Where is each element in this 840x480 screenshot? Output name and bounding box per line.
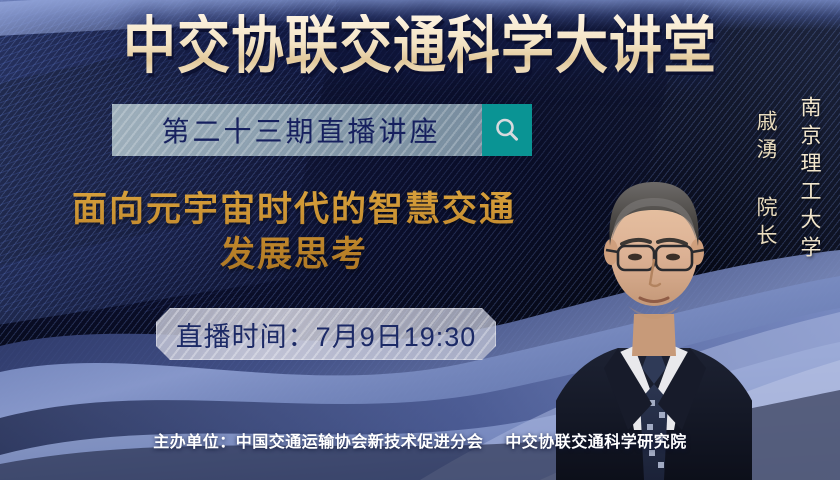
footer-prefix: 主办单位：: [153, 434, 236, 451]
lecture-title: 面向元宇宙时代的智慧交通 发展思考: [44, 188, 544, 278]
live-time-text: 直播时间：7月9日19:30: [176, 315, 477, 354]
episode-bar: 第二十三期直播讲座: [112, 104, 532, 156]
live-lecture-poster: 中交协联交通科学大讲堂 第二十三期直播讲座 面向元宇宙时代的智慧交通 发展思考 …: [0, 0, 840, 480]
episode-bar-body: 第二十三期直播讲座: [112, 104, 482, 156]
live-time-badge: 直播时间：7月9日19:30: [156, 308, 496, 360]
speaker-info: 戚湧 院长 南京理工大学: [750, 96, 824, 264]
page-title: 中交协联交通科学大讲堂: [0, 14, 840, 70]
search-icon[interactable]: [482, 104, 532, 156]
lecture-title-line2: 发展思考: [44, 233, 544, 278]
main-title-text: 中交协联交通科学大讲堂: [123, 14, 717, 80]
speaker-portrait: [556, 100, 752, 480]
episode-label: 第二十三期直播讲座: [153, 110, 440, 150]
lecture-title-line1: 面向元宇宙时代的智慧交通: [72, 190, 516, 229]
speaker-name-title: 戚湧 院长: [750, 96, 780, 264]
footer-organizer-2: 中交协联交通科学研究院: [505, 434, 687, 451]
footer-organizers: 主办单位：中国交通运输协会新技术促进分会中交协联交通科学研究院: [0, 428, 840, 452]
speaker-affiliation: 南京理工大学: [794, 96, 824, 264]
footer-organizer-1: 中国交通运输协会新技术促进分会: [236, 434, 484, 451]
